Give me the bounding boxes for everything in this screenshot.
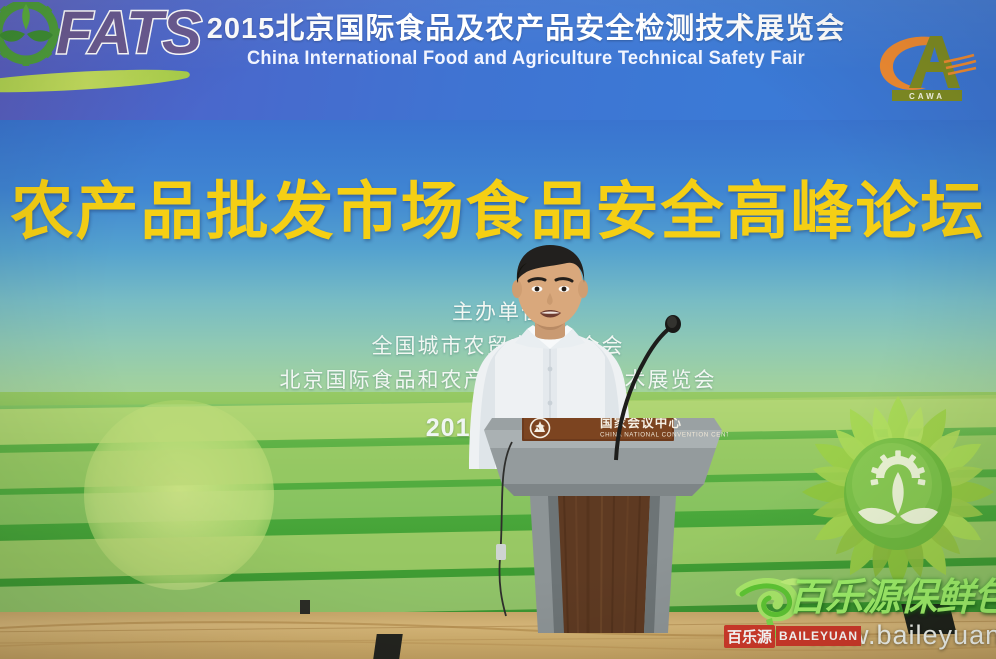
fats-wordmark: FATS (56, 2, 201, 64)
watermark-badge-cn: 百乐源 (724, 625, 775, 648)
svg-text:CAWA: CAWA (909, 92, 945, 101)
microphone (600, 300, 690, 470)
banner-header: 2015北京国际食品及农产品安全检测技术展览会 China Internatio… (186, 12, 866, 70)
fats-logo: FATS (0, 0, 176, 106)
banner-header-title-cn: 2015北京国际食品及农产品安全检测技术展览会 (186, 12, 866, 46)
watermark-badge: 百乐源 BAILEYUAN (724, 626, 861, 646)
cawa-logo: CAWA (868, 28, 986, 106)
photo-scene: FATS 2015北京国际食品及农产品安全检测技术展览会 China Inter… (0, 0, 996, 659)
forum-main-title: 农产品批发市场食品安全高峰论坛 (0, 176, 996, 248)
watermark: 百乐源保鲜包装 www.baileyuan.cn 百乐源 BAILEYUAN (700, 578, 996, 659)
sunflower-gear-sprout-graphic (794, 392, 996, 597)
watermark-badge-en: BAILEYUAN (776, 626, 861, 646)
watermark-brand: 百乐源保鲜包装 (788, 576, 996, 620)
banner-header-title-en: China International Food and Agriculture… (200, 48, 853, 70)
floor-object-left (373, 634, 403, 659)
